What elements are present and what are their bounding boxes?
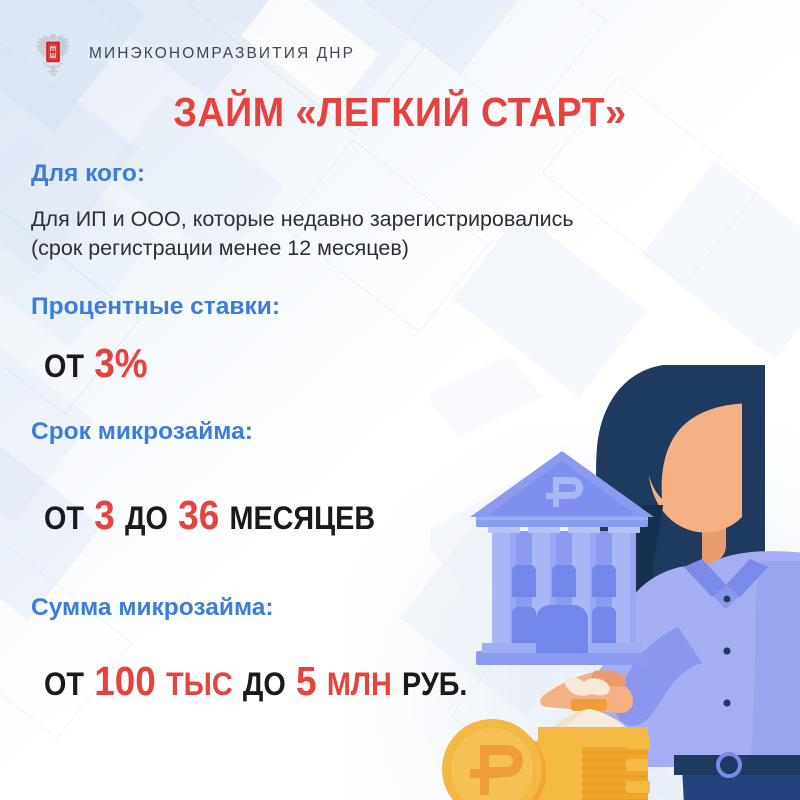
amount-value: ОТ 100 ТЫС ДО 5 МЛН РУБ. <box>44 658 467 705</box>
dnr-coat-of-arms-emblem-icon <box>31 28 75 80</box>
brand-header: МИНЭКОНОМРАЗВИТИЯ ДНР <box>31 28 355 80</box>
finance-illustration <box>430 355 800 800</box>
audience-description-line1: Для ИП и ООО, которые недавно зарегистри… <box>31 205 574 234</box>
ruble-coin-icon <box>442 719 546 800</box>
rate-from-value: 3% <box>94 340 147 386</box>
amount-from-unit: ТЫС <box>166 666 233 702</box>
amount-to-value: 5 <box>296 658 317 704</box>
amount-to-unit: МЛН <box>327 666 392 702</box>
ministry-name: МИНЭКОНОМРАЗВИТИЯ ДНР <box>89 45 355 63</box>
audience-description-line2: (срок регистрации менее 12 месяцев) <box>31 234 574 263</box>
amount-label: Сумма микрозайма: <box>31 594 274 622</box>
coin-stacks <box>442 719 650 800</box>
amount-to-word: ДО <box>243 666 286 702</box>
infographic-poster: МИНЭКОНОМРАЗВИТИЯ ДНР ЗАЙМ «ЛЕГКИЙ СТАРТ… <box>0 0 800 800</box>
term-to-word: ДО <box>125 500 168 536</box>
term-from-value: 3 <box>94 492 115 538</box>
term-value: ОТ 3 ДО 36 МЕСЯЦЕВ <box>44 492 375 539</box>
audience-description: Для ИП и ООО, которые недавно зарегистри… <box>31 205 574 262</box>
page-title: ЗАЙМ «ЛЕГКИЙ СТАРТ» <box>32 92 768 133</box>
term-unit: МЕСЯЦЕВ <box>229 500 375 536</box>
term-label: Срок микрозайма: <box>31 418 253 446</box>
amount-from-value: 100 <box>94 658 156 704</box>
term-from-word: ОТ <box>44 500 84 536</box>
rate-label: Процентные ставки: <box>31 293 280 321</box>
audience-label: Для кого: <box>31 160 145 188</box>
rate-value: ОТ 3% <box>44 340 148 387</box>
term-to-value: 36 <box>178 492 219 538</box>
rate-from-word: ОТ <box>44 348 84 384</box>
amount-from-word: ОТ <box>44 666 84 702</box>
